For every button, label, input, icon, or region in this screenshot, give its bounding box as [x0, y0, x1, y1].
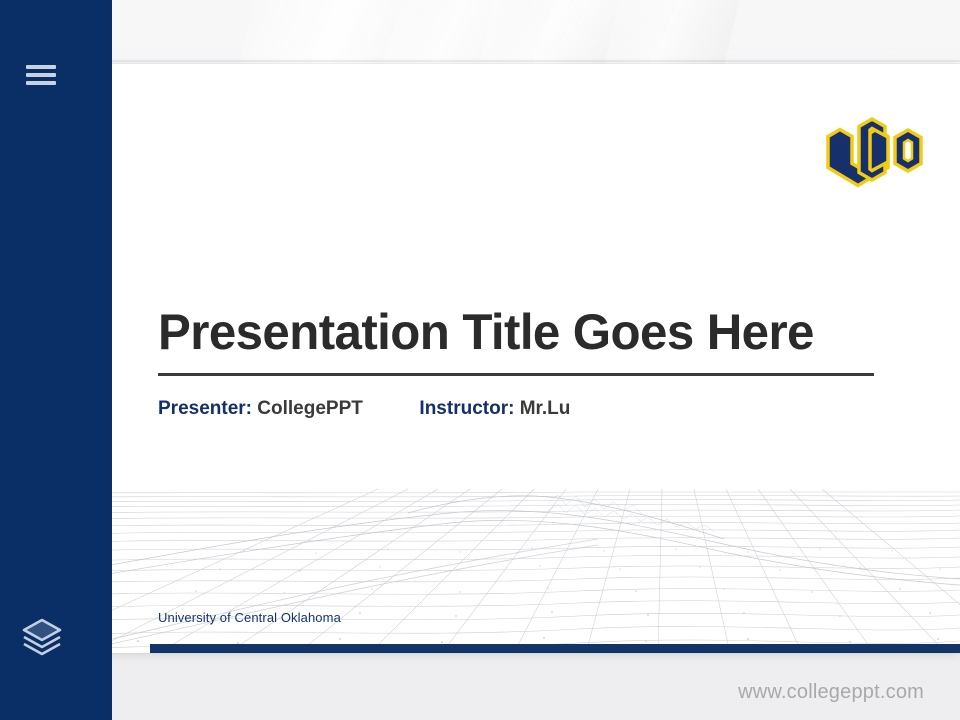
presentation-canvas: Presentation Title Goes Here Presenter: … [0, 0, 960, 720]
title-underline-rule [158, 373, 874, 376]
left-navy-rail [0, 0, 112, 720]
instructor-value: Mr.Lu [520, 398, 571, 419]
presenter-instructor-row: Presenter: CollegePPT Instructor: Mr.Lu [158, 398, 874, 420]
presenter-value: CollegePPT [257, 398, 363, 419]
title-block: Presentation Title Goes Here Presenter: … [158, 306, 874, 420]
presenter-label: Presenter: [158, 398, 252, 419]
layers-stack-icon[interactable] [18, 612, 66, 660]
hamburger-menu-icon[interactable] [26, 62, 56, 88]
slide-footer-text: University of Central Oklahoma [158, 610, 341, 625]
slide-bottom-navy-bar [150, 644, 960, 653]
site-watermark: www.collegeppt.com [738, 681, 924, 704]
uco-university-logo [820, 114, 930, 192]
hamburger-bar-1 [26, 65, 56, 69]
instructor-label: Instructor: [419, 398, 514, 419]
background-divider-line [0, 60, 960, 62]
slide-surface: Presentation Title Goes Here Presenter: … [78, 64, 960, 653]
hamburger-bar-2 [26, 73, 56, 77]
page-title: Presentation Title Goes Here [158, 306, 863, 359]
hamburger-bar-3 [26, 81, 56, 85]
